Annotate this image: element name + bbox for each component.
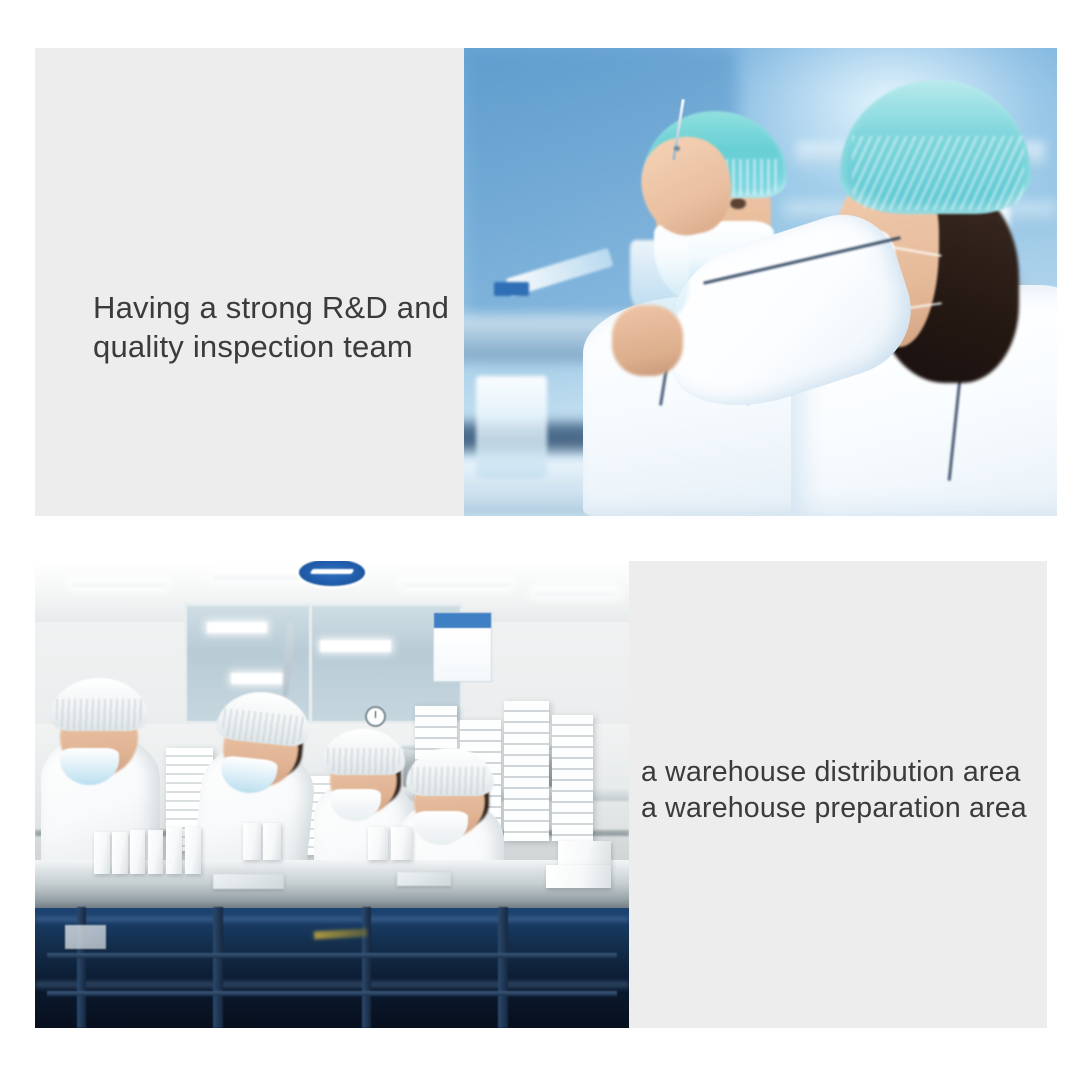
top-section-panel: Having a strong R&D and quality inspecti… <box>35 48 1057 516</box>
table-leg <box>362 907 372 1028</box>
paper-under-table <box>65 925 107 948</box>
table-leg <box>498 907 508 1028</box>
hair-net <box>216 687 313 747</box>
wall-notice-poster <box>433 612 492 682</box>
product-carton <box>368 827 388 860</box>
lab-glassware <box>476 376 547 479</box>
product-carton <box>166 827 183 874</box>
carton-stack <box>504 701 549 841</box>
paper-sheet <box>397 872 450 886</box>
hair-net <box>406 748 494 797</box>
product-carton <box>263 823 281 860</box>
top-caption-text: Having a strong R&D and quality inspecti… <box>93 288 449 366</box>
product-carton <box>94 832 109 874</box>
table-crossbar <box>47 991 617 996</box>
product-carton-flat <box>546 865 611 888</box>
paper-sheet <box>213 874 284 889</box>
ceiling-light <box>534 589 617 596</box>
hair-net <box>50 678 147 731</box>
hair-net <box>322 729 405 775</box>
window-interior-light <box>207 622 266 633</box>
window-interior-light <box>320 640 391 651</box>
floor-reflection-band <box>35 916 629 923</box>
bottom-section-panel: a warehouse distribution area a warehous… <box>35 561 1047 1028</box>
hand-lower <box>612 305 683 375</box>
floor <box>35 908 629 1028</box>
product-carton <box>130 830 145 874</box>
product-carton <box>391 827 411 860</box>
floor-reflection-band <box>35 981 629 988</box>
warehouse-packing-photo <box>35 561 629 1028</box>
bottom-caption-text: a warehouse distribution area a warehous… <box>641 754 1027 826</box>
table-leg <box>213 907 223 1028</box>
table-crossbar <box>47 953 617 958</box>
product-carton-flat <box>558 841 611 864</box>
hair-net-cap <box>840 80 1031 213</box>
ceiling-light <box>71 580 166 587</box>
product-carton <box>243 823 261 860</box>
reagent-bottle-cap <box>494 282 530 296</box>
product-carton <box>148 830 163 874</box>
product-carton <box>112 832 127 874</box>
product-carton <box>185 827 202 874</box>
wall-clock <box>365 706 386 727</box>
ceiling-light <box>403 580 510 587</box>
carton-stack <box>552 715 594 841</box>
lab-inspection-photo <box>464 48 1057 516</box>
window-interior-light <box>231 673 284 684</box>
